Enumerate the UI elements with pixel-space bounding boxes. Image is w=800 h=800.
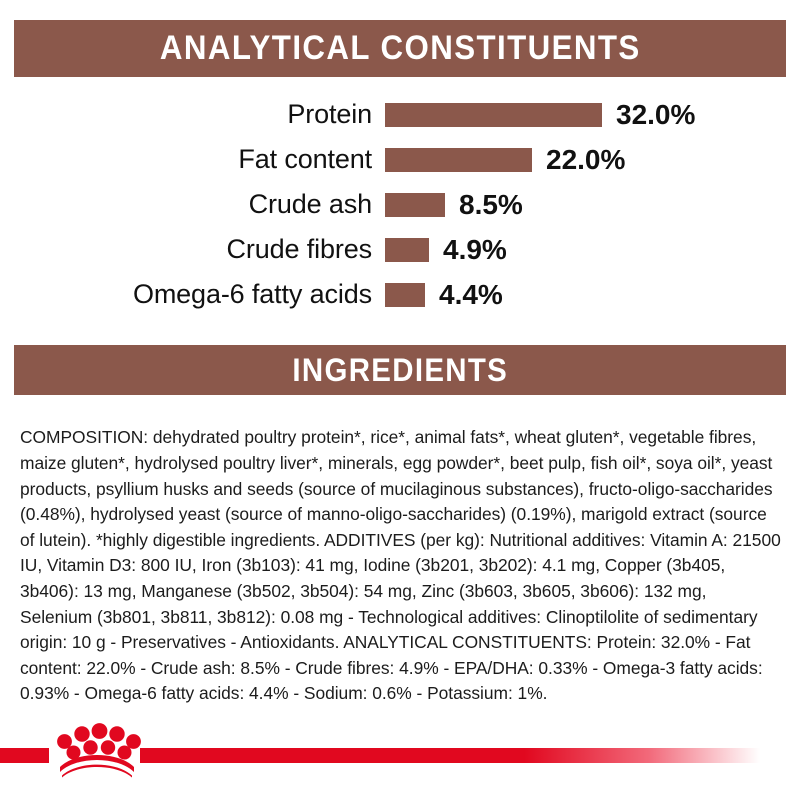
chart-row-bar <box>385 193 445 217</box>
chart-row-label: Crude fibres <box>0 234 385 265</box>
chart-row-value: 4.4% <box>425 279 503 311</box>
chart-row: Protein32.0% <box>0 92 800 137</box>
chart-row-value: 32.0% <box>602 99 695 131</box>
analytical-constituents-title: ANALYTICAL CONSTITUENTS <box>160 29 641 68</box>
chart-row: Omega-6 fatty acids4.4% <box>0 272 800 317</box>
chart-row-label: Crude ash <box>0 189 385 220</box>
chart-row-bar <box>385 238 429 262</box>
chart-row-value: 8.5% <box>445 189 523 221</box>
chart-row-bar <box>385 103 602 127</box>
chart-row: Crude fibres4.9% <box>0 227 800 272</box>
royal-canin-crown-icon <box>52 716 142 778</box>
chart-row-label: Omega-6 fatty acids <box>0 279 385 310</box>
ingredients-header: INGREDIENTS <box>14 345 786 395</box>
chart-row-bar <box>385 148 532 172</box>
chart-row-label: Fat content <box>0 144 385 175</box>
analytical-constituents-chart: Protein32.0%Fat content22.0%Crude ash8.5… <box>0 92 800 317</box>
chart-row-value: 4.9% <box>429 234 507 266</box>
chart-row: Fat content22.0% <box>0 137 800 182</box>
chart-row-label: Protein <box>0 99 385 130</box>
ingredients-title: INGREDIENTS <box>292 352 508 389</box>
chart-row-bar <box>385 283 425 307</box>
composition-text: COMPOSITION: dehydrated poultry protein*… <box>20 425 782 707</box>
footer-brand-bar <box>0 700 800 800</box>
analytical-constituents-header: ANALYTICAL CONSTITUENTS <box>14 20 786 77</box>
brand-rule-left <box>0 748 49 763</box>
chart-row: Crude ash8.5% <box>0 182 800 227</box>
brand-rule-right <box>140 748 760 763</box>
chart-row-value: 22.0% <box>532 144 625 176</box>
